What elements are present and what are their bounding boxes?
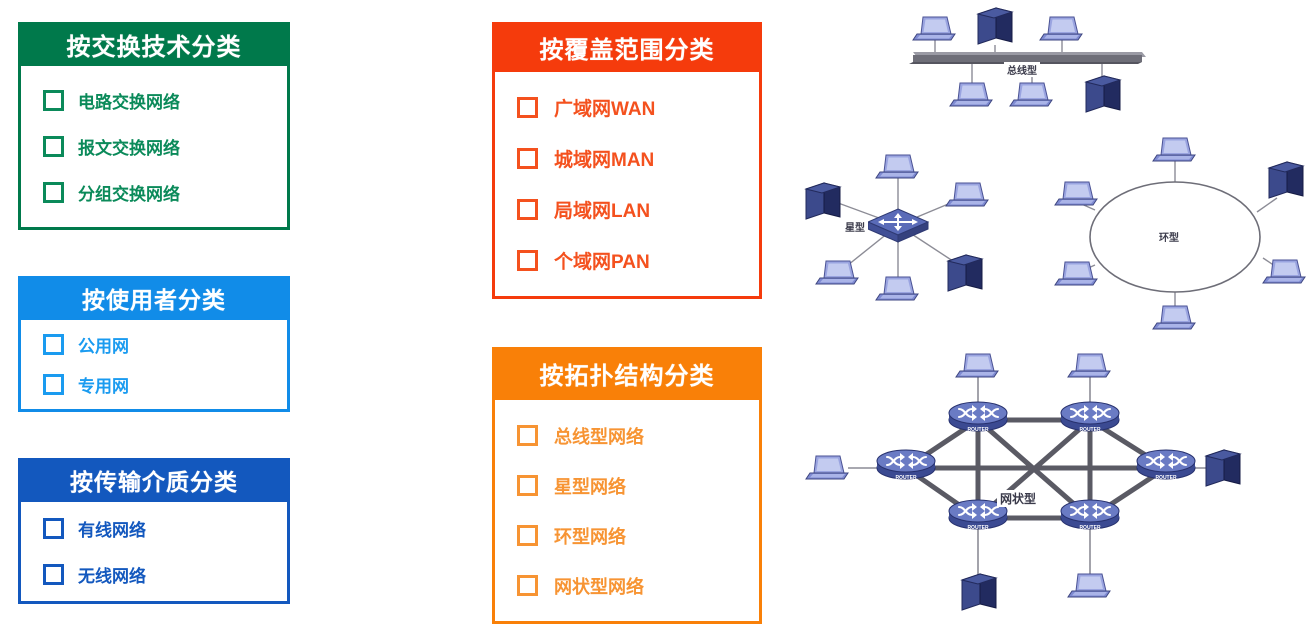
device-server [1269,162,1303,198]
checkbox-icon[interactable] [517,199,538,220]
card-title-coverage-range: 按覆盖范围分类 [492,22,762,72]
device-laptop [1040,17,1082,40]
device-server [1086,76,1120,112]
option-label: 总线型网络 [554,423,644,449]
option-label: 个域网PAN [554,247,650,274]
option-row[interactable]: 无线网络 [43,552,287,598]
option-row[interactable]: 报文交换网络 [43,124,287,170]
option-row[interactable]: 环型网络 [517,511,759,561]
device-laptop [1055,262,1097,285]
option-row[interactable]: 城域网MAN [517,133,759,184]
device-laptop [1153,138,1195,161]
card-options-coverage-range: 广域网WAN 城域网MAN 局域网LAN 个域网PAN [492,72,762,299]
device-server [806,183,840,219]
device-laptop [1055,182,1097,205]
router-label: ROUTER [967,525,989,531]
topology-diagram-mesh: ROUTER ROUTER ROUTER ROUTER ROUTER ROUTE… [818,368,1238,618]
option-row[interactable]: 星型网络 [517,461,759,511]
device-laptop [946,183,988,206]
topology-label-ring: 环型 [1156,229,1182,244]
option-label: 电路交换网络 [78,88,180,113]
option-row[interactable]: 公用网 [43,324,287,365]
option-label: 分组交换网络 [78,180,180,205]
device-laptop [1068,574,1110,597]
topology-label-mesh: 网状型 [997,490,1039,507]
device-server [962,574,996,610]
device-server [1206,450,1240,486]
option-label: 有线网络 [78,516,146,541]
option-label: 环型网络 [554,523,626,549]
option-label: 无线网络 [78,562,146,587]
card-title-switching-technology: 按交换技术分类 [18,22,290,66]
option-row[interactable]: 局域网LAN [517,184,759,235]
router-label: ROUTER [1079,427,1101,433]
checkbox-icon[interactable] [517,575,538,596]
checkbox-icon[interactable] [517,525,538,546]
device-server [978,8,1012,44]
option-row[interactable]: 有线网络 [43,506,287,552]
option-label: 专用网 [78,372,129,397]
checkbox-icon[interactable] [43,182,64,203]
card-topology-structure: 按拓扑结构分类 总线型网络 星型网络 环型网络 网状型网络 [492,347,762,624]
card-title-topology-structure: 按拓扑结构分类 [492,347,762,400]
checkbox-icon[interactable] [43,374,64,395]
option-row[interactable]: 分组交换网络 [43,170,287,216]
checkbox-icon[interactable] [517,97,538,118]
topology-diagram-bus: 总线型 [880,0,1180,120]
checkbox-icon[interactable] [43,518,64,539]
card-options-topology-structure: 总线型网络 星型网络 环型网络 网状型网络 [492,400,762,624]
option-label: 广域网WAN [554,94,655,121]
device-laptop [876,155,918,178]
device-laptop [1153,306,1195,329]
device-switch [868,209,928,242]
topology-label-star: 星型 [842,219,868,234]
checkbox-icon[interactable] [517,148,538,169]
device-server [948,255,982,291]
device-laptop [1263,260,1305,283]
card-coverage-range: 按覆盖范围分类 广域网WAN 城域网MAN 局域网LAN 个域网PAN [492,22,762,299]
checkbox-icon[interactable] [517,425,538,446]
device-laptop [806,456,848,479]
device-laptop [1010,83,1052,106]
card-title-transmission-medium: 按传输介质分类 [18,458,290,502]
checkbox-icon[interactable] [43,90,64,111]
topology-diagram-star: 星型 [790,145,1005,320]
router-label: ROUTER [1079,525,1101,531]
device-laptop [913,17,955,40]
option-label: 城域网MAN [554,145,654,172]
card-transmission-medium: 按传输介质分类 有线网络 无线网络 [18,458,290,604]
topology-diagram-ring: 环型 [1055,140,1310,330]
infographic-canvas: 按交换技术分类 电路交换网络 报文交换网络 分组交换网络 按使用者分类 公用网 [0,0,1313,622]
checkbox-icon[interactable] [517,475,538,496]
card-options-user-type: 公用网 专用网 [18,320,290,412]
device-laptop [956,354,998,377]
option-row[interactable]: 网状型网络 [517,561,759,611]
router-labels: ROUTER ROUTER ROUTER ROUTER ROUTER ROUTE… [895,427,1177,531]
router-label: ROUTER [1155,475,1177,481]
router-label: ROUTER [967,427,989,433]
card-title-user-type: 按使用者分类 [18,276,290,320]
option-row[interactable]: 电路交换网络 [43,78,287,124]
card-options-transmission-medium: 有线网络 无线网络 [18,502,290,604]
device-laptop [1068,354,1110,377]
option-label: 局域网LAN [554,196,650,223]
card-switching-technology: 按交换技术分类 电路交换网络 报文交换网络 分组交换网络 [18,22,290,230]
option-label: 网状型网络 [554,573,644,599]
device-laptop [950,83,992,106]
device-laptop [876,277,918,300]
option-row[interactable]: 个域网PAN [517,235,759,286]
device-laptop [816,261,858,284]
checkbox-icon[interactable] [43,334,64,355]
card-user-type: 按使用者分类 公用网 专用网 [18,276,290,412]
card-options-switching-technology: 电路交换网络 报文交换网络 分组交换网络 [18,66,290,230]
checkbox-icon[interactable] [517,250,538,271]
checkbox-icon[interactable] [43,564,64,585]
option-row[interactable]: 广域网WAN [517,82,759,133]
router-label: ROUTER [895,475,917,481]
topology-label-bus: 总线型 [1004,62,1040,77]
option-label: 星型网络 [554,473,626,499]
option-row[interactable]: 专用网 [43,365,287,406]
option-label: 报文交换网络 [78,134,180,159]
checkbox-icon[interactable] [43,136,64,157]
option-row[interactable]: 总线型网络 [517,411,759,461]
option-label: 公用网 [78,332,129,357]
